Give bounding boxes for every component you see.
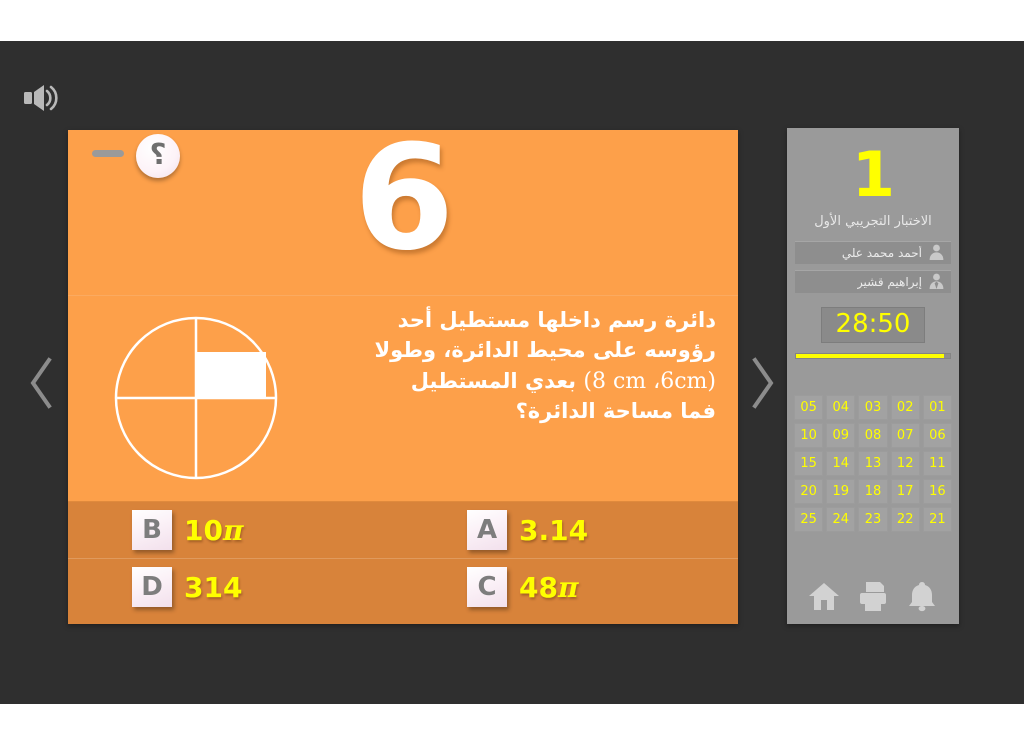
- question-number-cell[interactable]: 02: [891, 395, 920, 420]
- print-icon: [856, 580, 890, 616]
- answer-options: B 10π A 3.14 D 314 C 48π: [68, 502, 738, 624]
- option-value-c: 48π: [519, 571, 578, 604]
- next-question-button[interactable]: [740, 348, 786, 422]
- option-value-b: 10π: [184, 514, 243, 547]
- question-line-1: دائرة رسم داخلها مستطيل أحد: [316, 306, 716, 336]
- bell-icon: [905, 580, 939, 616]
- question-number-cell[interactable]: 11: [923, 451, 952, 476]
- user-row-2[interactable]: إبراهيم قشير: [795, 270, 951, 293]
- answer-row-1: B 10π A 3.14: [68, 502, 738, 559]
- question-line-3-prefix: بعدي المستطيل: [411, 369, 576, 393]
- speaker-button[interactable]: [22, 78, 70, 122]
- option-value-d: 314: [184, 571, 242, 604]
- panel-tools: [787, 578, 959, 618]
- question-number-cell[interactable]: 17: [891, 479, 920, 504]
- question-number-cell[interactable]: 16: [923, 479, 952, 504]
- answer-option-a[interactable]: A 3.14: [403, 510, 738, 550]
- timer-wrap: 28:50: [787, 307, 959, 343]
- question-number-cell[interactable]: 22: [891, 507, 920, 532]
- question-number-cell[interactable]: 20: [794, 479, 823, 504]
- option-letter-c: C: [467, 567, 507, 607]
- question-line-3: (8 cm ،6cm) بعدي المستطيل: [316, 366, 716, 397]
- user-row-1[interactable]: أحمد محمد علي: [795, 241, 951, 264]
- question-number-cell[interactable]: 14: [826, 451, 855, 476]
- question-number-cell[interactable]: 05: [794, 395, 823, 420]
- question-number-cell[interactable]: 15: [794, 451, 823, 476]
- question-dimensions: (8 cm ،6cm): [583, 366, 716, 397]
- option-letter-d: D: [132, 567, 172, 607]
- question-number-cell[interactable]: 24: [826, 507, 855, 532]
- question-number-cell[interactable]: 04: [826, 395, 855, 420]
- question-number-grid: 0504030201100908070615141312112019181716…: [794, 395, 952, 532]
- chevron-right-icon: [748, 355, 778, 415]
- user-name-1: أحمد محمد علي: [842, 246, 922, 260]
- user-name-2: إبراهيم قشير: [857, 275, 922, 289]
- person-icon: [928, 243, 945, 264]
- question-number-cell[interactable]: 10: [794, 423, 823, 448]
- option-letter-a: A: [467, 510, 507, 550]
- exam-number: 1: [787, 128, 959, 206]
- screen: ؟ 6 دائرة رسم داخلها مستطيل أحد رؤوسه عل…: [0, 0, 1024, 748]
- question-line-2: رؤوسه على محيط الدائرة، وطولا: [316, 336, 716, 366]
- quiz-card: ؟ 6 دائرة رسم داخلها مستطيل أحد رؤوسه عل…: [68, 130, 738, 624]
- answer-row-2: D 314 C 48π: [68, 559, 738, 615]
- question-number-cell[interactable]: 25: [794, 507, 823, 532]
- option-letter-b: B: [132, 510, 172, 550]
- question-number-cell[interactable]: 03: [858, 395, 887, 420]
- question-number: 6: [68, 126, 738, 271]
- answer-option-b[interactable]: B 10π: [68, 510, 403, 550]
- time-progress-fill: [796, 354, 944, 358]
- prev-question-button[interactable]: [18, 348, 64, 422]
- quiz-card-header: ؟ 6: [68, 130, 738, 296]
- answer-option-c[interactable]: C 48π: [403, 567, 738, 607]
- question-number-cell[interactable]: 08: [858, 423, 887, 448]
- print-button[interactable]: [852, 578, 894, 618]
- chevron-left-icon: [26, 355, 56, 415]
- question-number-cell[interactable]: 01: [923, 395, 952, 420]
- exam-title: الاختبار التجريبي الأول: [787, 206, 959, 241]
- question-number-cell[interactable]: 09: [826, 423, 855, 448]
- question-number-cell[interactable]: 06: [923, 423, 952, 448]
- question-number-cell[interactable]: 21: [923, 507, 952, 532]
- question-number-cell[interactable]: 12: [891, 451, 920, 476]
- question-number-cell[interactable]: 07: [891, 423, 920, 448]
- countdown-timer: 28:50: [821, 307, 926, 343]
- question-number-cell[interactable]: 18: [858, 479, 887, 504]
- option-value-a: 3.14: [519, 514, 588, 547]
- quiz-card-body: دائرة رسم داخلها مستطيل أحد رؤوسه على مح…: [68, 296, 738, 502]
- question-number-cell[interactable]: 13: [858, 451, 887, 476]
- time-progress-bar: [795, 353, 951, 359]
- question-number-cell[interactable]: 23: [858, 507, 887, 532]
- circle-with-inscribed-rectangle-icon: [108, 308, 288, 488]
- question-line-4: فما مساحة الدائرة؟: [316, 397, 716, 427]
- question-number-cell[interactable]: 19: [826, 479, 855, 504]
- question-text: دائرة رسم داخلها مستطيل أحد رؤوسه على مح…: [316, 306, 716, 427]
- person-tie-icon: [928, 272, 945, 293]
- exam-side-panel: 1 الاختبار التجريبي الأول أحمد محمد علي …: [787, 128, 959, 624]
- home-icon: [807, 580, 841, 616]
- home-button[interactable]: [803, 578, 845, 618]
- speaker-volume-icon: [22, 82, 62, 118]
- alerts-button[interactable]: [901, 578, 943, 618]
- answer-option-d[interactable]: D 314: [68, 567, 403, 607]
